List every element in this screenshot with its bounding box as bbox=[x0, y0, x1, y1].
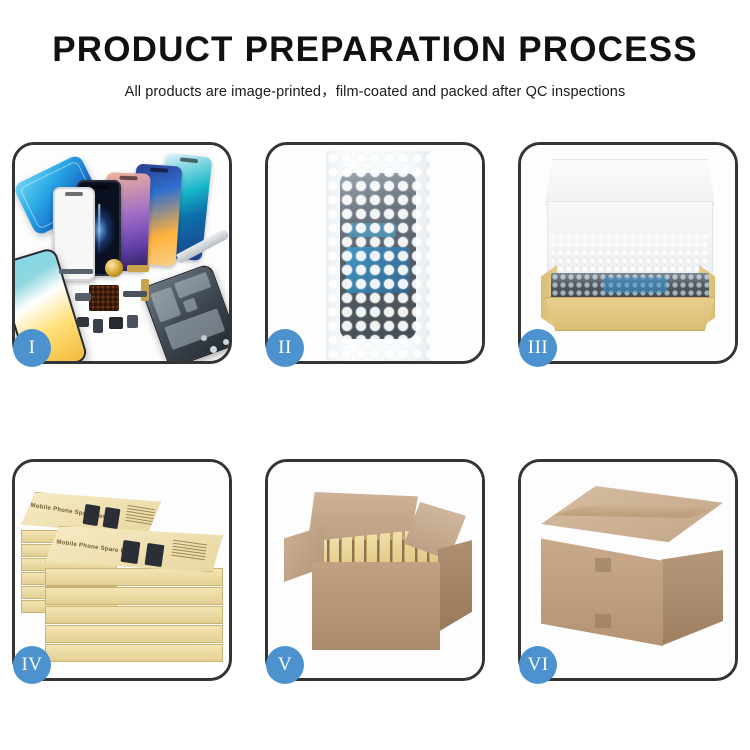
step-panel-6: VI bbox=[518, 459, 738, 681]
step-panel-1: I bbox=[12, 142, 232, 364]
step-panel-4: Mobile Phone Spare Parts Mobile Phone Sp… bbox=[12, 459, 232, 681]
photo-sealed-shipping-carton bbox=[521, 462, 735, 678]
box-artwork-phone bbox=[103, 507, 121, 529]
screw-part bbox=[210, 346, 217, 353]
stacked-box-slab bbox=[45, 625, 223, 643]
foam-lining bbox=[549, 233, 711, 277]
photo-open-shipping-carton bbox=[268, 462, 482, 678]
box-open-lid bbox=[545, 159, 715, 205]
notch-icon bbox=[180, 157, 198, 162]
photo-open-box-with-foam bbox=[521, 145, 735, 361]
shipping-carton-sealed bbox=[541, 486, 723, 662]
box-spec-text-block bbox=[125, 505, 155, 527]
step-badge-1: I bbox=[13, 329, 51, 367]
small-component-part bbox=[75, 293, 91, 301]
box-spec-text-block bbox=[171, 540, 207, 563]
small-component-part bbox=[93, 319, 103, 333]
gold-coil-part bbox=[105, 259, 123, 277]
box-artwork-phone bbox=[145, 543, 165, 567]
step-panel-2: II bbox=[265, 142, 485, 364]
box-front-panel bbox=[545, 297, 715, 331]
photo-bubble-wrapped-phone bbox=[268, 145, 482, 361]
small-component-part bbox=[77, 317, 89, 327]
step-badge-4: IV bbox=[13, 646, 51, 684]
retail-box-stack: Mobile Phone Spare Parts Mobile Phone Sp… bbox=[19, 474, 229, 674]
notch-icon bbox=[119, 176, 137, 180]
small-component-part bbox=[127, 315, 138, 328]
phone-screen-fan bbox=[53, 153, 228, 273]
step-badge-2: II bbox=[266, 329, 304, 367]
carton-front-face bbox=[312, 562, 440, 650]
flex-cable-part bbox=[127, 265, 149, 272]
step-badge-6: VI bbox=[519, 646, 557, 684]
step-badge-5: V bbox=[266, 646, 304, 684]
process-steps-grid: I II bbox=[12, 142, 738, 681]
photo-stacked-retail-boxes: Mobile Phone Spare Parts Mobile Phone Sp… bbox=[15, 462, 229, 678]
page-title: PRODUCT PREPARATION PROCESS bbox=[0, 32, 750, 69]
metal-strip-part bbox=[59, 269, 93, 274]
wrapped-product-inside-box bbox=[551, 273, 709, 301]
bubble-wrap-texture bbox=[326, 151, 430, 361]
carton-front-face bbox=[541, 534, 663, 646]
step-badge-3: III bbox=[519, 329, 557, 367]
connector-grid-part bbox=[89, 285, 119, 311]
small-component-part bbox=[109, 317, 123, 329]
page-header: PRODUCT PREPARATION PROCESS All products… bbox=[0, 0, 750, 101]
box-artwork-phone bbox=[121, 540, 141, 564]
photo-phone-screens-and-spare-parts bbox=[15, 145, 229, 361]
notch-icon bbox=[65, 192, 83, 196]
box-artwork-phone bbox=[83, 504, 101, 526]
stacked-box-slab bbox=[45, 606, 223, 624]
page-subtitle: All products are image-printed，film-coat… bbox=[0, 80, 750, 101]
flex-cable-part bbox=[123, 291, 147, 297]
step-panel-3: III bbox=[518, 142, 738, 364]
notch-icon bbox=[150, 167, 168, 172]
product-preparation-page: PRODUCT PREPARATION PROCESS All products… bbox=[0, 0, 750, 750]
carton-seam-mark bbox=[595, 614, 611, 628]
shipping-carton-open bbox=[286, 488, 472, 660]
bubble-wrap-bag bbox=[326, 151, 430, 361]
carton-side-right bbox=[661, 550, 723, 646]
stacked-box-slab bbox=[45, 644, 223, 662]
step-panel-5: V bbox=[265, 459, 485, 681]
carton-side-right bbox=[438, 540, 472, 632]
carton-seam-mark bbox=[595, 558, 611, 572]
flex-cable-part bbox=[141, 279, 149, 301]
screw-part bbox=[201, 335, 207, 341]
stacked-box-slab bbox=[45, 587, 223, 605]
spare-parts-cluster bbox=[71, 263, 191, 359]
screw-part bbox=[223, 339, 229, 345]
